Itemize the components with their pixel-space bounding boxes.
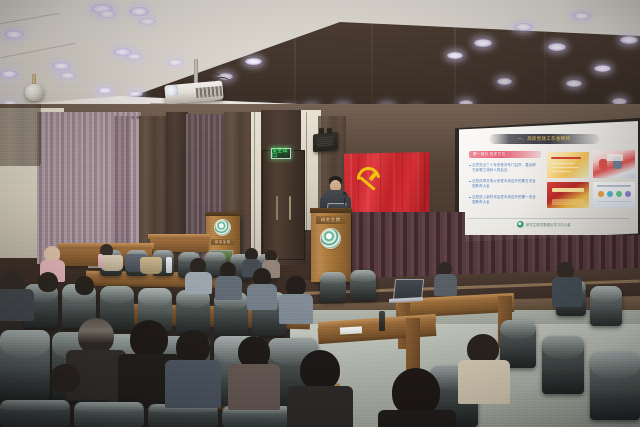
university-seal-logo-icon xyxy=(517,221,524,228)
ceiling-downlight xyxy=(514,23,533,31)
audience-paper xyxy=(340,326,362,334)
ceiling-downlight xyxy=(497,78,512,85)
auditorium-seat[interactable] xyxy=(74,402,144,427)
ceiling-downlight xyxy=(620,36,638,44)
hammer-sickle-emblem xyxy=(352,164,382,194)
water-bottle xyxy=(166,257,172,273)
auditorium-seat[interactable] xyxy=(176,290,210,334)
podium-microphone-head xyxy=(343,192,346,195)
ceiling-downlight xyxy=(245,58,262,65)
ceiling-downlight xyxy=(548,43,566,51)
ceiling-downlight xyxy=(97,87,113,94)
exit-sign: 安全出口 xyxy=(271,148,291,159)
ceiling-downlight xyxy=(572,12,591,20)
ceiling-dome-camera xyxy=(25,84,44,101)
slide-thumbnail xyxy=(593,150,635,178)
podium-nameplate-text: 研究生院 xyxy=(321,217,341,223)
auditorium-seat[interactable] xyxy=(350,270,376,300)
slide-title-text: 一、高校党政工作会精神 xyxy=(518,136,571,142)
slide-bullet: 这是改革开放以来党中央召开的第五次全国教育大会 xyxy=(469,179,539,189)
ceiling-downlight xyxy=(139,18,156,25)
podium-nameplate: 研究生院 xyxy=(316,216,346,224)
podium-secondary-emblem-icon xyxy=(215,220,230,235)
auditorium-seat[interactable] xyxy=(590,286,622,326)
bullet-dot-icon xyxy=(469,165,471,167)
auditorium-seat[interactable] xyxy=(0,400,70,427)
ceiling-downlight xyxy=(594,65,611,72)
podium-emblem-icon xyxy=(321,229,340,248)
slide-section-heading-text: 第一部分 历史方位 xyxy=(469,152,505,157)
podium-secondary-nameplate-text: 研究生院 xyxy=(215,240,231,244)
podium-microphone xyxy=(344,194,354,210)
exit-sign-label: 安全出口 xyxy=(272,149,290,159)
slide-bullet-text: 这是改革开放以来党中央召开的第五次全国教育大会 xyxy=(472,179,539,189)
ceiling-downlight xyxy=(167,59,184,66)
ceiling-downlight xyxy=(4,30,24,39)
slide-footer: 研究生院党委理论学习中心组 xyxy=(517,221,571,228)
ceiling-downlight xyxy=(52,62,71,70)
slide-bullet: 这是党近三十年来首次专门召开、重点研究部署立德树人的会议 xyxy=(469,163,539,173)
ceiling-downlight xyxy=(59,72,76,79)
slide-bullet-text: 这是党近三十年来首次专门召开、重点研究部署立德树人的会议 xyxy=(472,163,539,173)
ceiling-downlight xyxy=(128,91,143,97)
projector-mount-rod xyxy=(194,59,198,85)
auditorium-seat[interactable] xyxy=(542,336,584,394)
wall-speaker-mount xyxy=(327,128,332,135)
slide-section-heading: 第一部分 历史方位 xyxy=(469,151,541,158)
ceiling-downlight xyxy=(129,7,149,16)
slide-thumbnail xyxy=(547,152,589,178)
door-handle[interactable] xyxy=(276,196,278,220)
podium-secondary-desktop xyxy=(205,212,241,216)
ceiling-downlight xyxy=(98,10,116,18)
slide-thumbnail xyxy=(593,182,635,208)
auditorium-seat[interactable] xyxy=(320,272,346,302)
water-bottle xyxy=(98,254,103,268)
wall-speaker-grille xyxy=(317,136,333,147)
ceiling-downlight xyxy=(566,80,582,87)
podium-secondary-nameplate: 研究生院 xyxy=(211,239,235,245)
wall-speaker-mount xyxy=(319,128,324,135)
ceiling-downlight xyxy=(0,70,18,78)
slide-title-banner: 一、高校党政工作会精神 xyxy=(489,134,599,144)
wall-wood-pier xyxy=(0,104,40,166)
door-handle[interactable] xyxy=(289,196,291,220)
audience-handbag xyxy=(140,257,162,274)
audience-desk-side xyxy=(406,318,420,374)
auditorium-photo: 安全出口 一、高校党政工作会精神 第一部分 历史方位 这是党近三十年来首次专 xyxy=(0,0,640,427)
bullet-dot-icon xyxy=(469,197,471,199)
water-bottle xyxy=(379,311,385,331)
front-head-table-top xyxy=(148,234,210,239)
slide-bullet: 这是进入新时代后党中央召开的第一次全国教育大会 xyxy=(469,195,539,205)
slide-bullet-text: 这是进入新时代后党中央召开的第一次全国教育大会 xyxy=(472,195,539,205)
projector-cable xyxy=(214,77,230,88)
projector-lens xyxy=(166,84,179,96)
slide-thumbnail xyxy=(547,182,589,208)
auditorium-seat[interactable] xyxy=(590,352,640,420)
bullet-dot-icon xyxy=(469,181,471,183)
auditorium-door[interactable] xyxy=(262,150,305,260)
audience-handbag xyxy=(101,255,123,271)
slide-footer-text: 研究生院党委理论学习中心组 xyxy=(526,222,571,227)
ceiling-downlight xyxy=(126,53,143,60)
ceiling-downlight xyxy=(447,52,463,59)
ceiling-downlight xyxy=(474,39,492,47)
auditorium-seat[interactable] xyxy=(0,330,50,400)
projection-screen: 一、高校党政工作会精神 第一部分 历史方位 这是党近三十年来首次专门召开、重点研… xyxy=(459,121,638,242)
